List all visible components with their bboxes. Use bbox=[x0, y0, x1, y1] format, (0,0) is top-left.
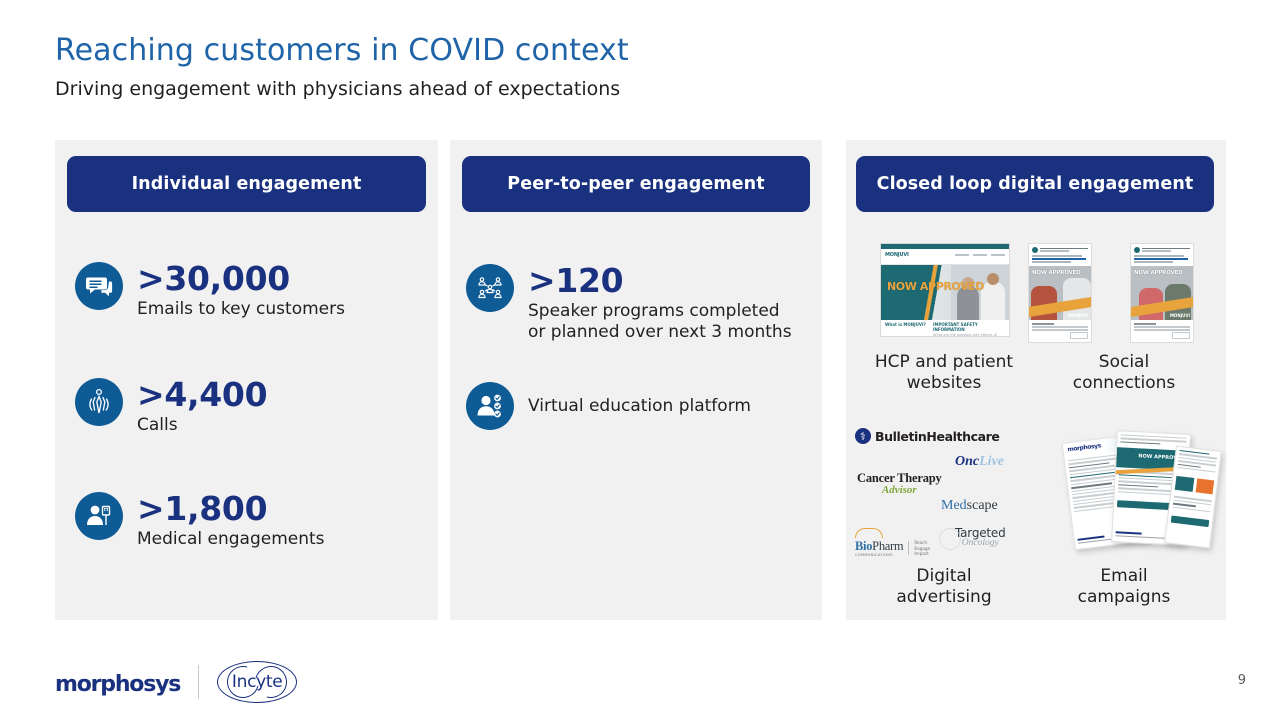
logo-text-primary: Bio bbox=[855, 539, 872, 553]
chat-bubbles-icon bbox=[75, 262, 123, 310]
website-footer-right-heading: IMPORTANT SAFETY INFORMATION bbox=[933, 322, 1009, 332]
item-virtual-education-platform: Virtual education platform bbox=[466, 382, 751, 430]
arc-icon bbox=[855, 528, 883, 538]
stat-calls: >4,400 Calls bbox=[75, 378, 267, 436]
avatar bbox=[1032, 247, 1038, 253]
stat-medical-engagements: >1,800 Medical engagements bbox=[75, 492, 325, 550]
stat-speaker-programs: >120 Speaker programs completed or plann… bbox=[466, 264, 792, 342]
logo-divider bbox=[908, 541, 909, 555]
website-nav-links bbox=[955, 254, 1005, 256]
logo-onclive: OncLive bbox=[955, 454, 1004, 470]
social-post-account bbox=[1142, 248, 1190, 253]
stat-value: >4,400 bbox=[137, 378, 267, 411]
social-post-thumbnail[interactable]: NOW APPROVED MONJUVI bbox=[1130, 243, 1194, 343]
stat-emails-to-key-customers: >30,000 Emails to key customers bbox=[75, 262, 345, 320]
logo-text-primary: Onc bbox=[955, 454, 979, 469]
person-checklist-icon bbox=[466, 382, 514, 430]
panel-header-peer-to-peer-engagement: Peer-to-peer engagement bbox=[462, 156, 810, 212]
social-post-header bbox=[1029, 244, 1091, 255]
caption-digital-advertising: Digital advertising bbox=[856, 566, 1032, 609]
website-navbar: MONJUVI bbox=[881, 249, 1009, 265]
email-cta-button[interactable] bbox=[1171, 515, 1210, 527]
website-screenshot-thumbnail[interactable]: MONJUVI NOW APPROVED · What is MONJUVI? … bbox=[880, 243, 1010, 337]
social-post-cta-button[interactable] bbox=[1172, 332, 1190, 339]
rays-icon bbox=[939, 528, 961, 550]
email-image-row bbox=[1175, 476, 1214, 495]
stat-value: >120 bbox=[528, 264, 792, 297]
page-subtitle: Driving engagement with physicians ahead… bbox=[55, 78, 620, 100]
people-network-icon bbox=[466, 264, 514, 312]
logo-tagline: Reach Engage Impact bbox=[914, 540, 930, 557]
panel-peer-to-peer-engagement: Peer-to-peer engagement bbox=[450, 140, 822, 620]
partner-logo-group: BulletinHealthcare OncLive Cancer Therap… bbox=[855, 428, 1035, 558]
footer-logos: morphosys Incyte bbox=[55, 658, 297, 706]
stat-value: >1,800 bbox=[137, 492, 325, 525]
logo-text-rest: scape bbox=[967, 498, 998, 513]
logo-biopharm-communications: BioPharm COMMUNICATIONS Reach Engage Imp… bbox=[855, 528, 930, 557]
social-post-thumbnail[interactable]: NOW APPROVED MONJUVI bbox=[1028, 243, 1092, 343]
logo-divider bbox=[198, 665, 199, 699]
caption-email-campaigns: Email campaigns bbox=[1036, 566, 1212, 609]
morphosys-logo: morphosys bbox=[55, 672, 180, 697]
email-body-lines bbox=[1174, 447, 1221, 479]
website-footer-right-sub: What are the possible side effects of MO… bbox=[933, 333, 1009, 337]
logo-text-primary: M bbox=[941, 498, 953, 513]
social-post-account bbox=[1040, 248, 1088, 253]
incyte-logo-text: Incyte bbox=[232, 672, 283, 692]
item-label: Virtual education platform bbox=[528, 382, 751, 430]
caduceus-icon bbox=[855, 428, 871, 444]
email-body-lines-2 bbox=[1169, 493, 1215, 518]
website-footer: What is MONJUVI? IMPORTANT SAFETY INFORM… bbox=[881, 320, 1009, 337]
panel-header-individual-engagement: Individual engagement bbox=[67, 156, 426, 212]
caption-social-connections: Social connections bbox=[1036, 352, 1212, 395]
website-brand-logo: MONJUVI bbox=[885, 252, 909, 258]
logo-bulletinhealthcare: BulletinHealthcare bbox=[855, 428, 999, 444]
social-post-text bbox=[1029, 255, 1091, 266]
social-post-header bbox=[1131, 244, 1193, 255]
panel-header-closed-loop-digital-engagement: Closed loop digital engagement bbox=[856, 156, 1214, 212]
logo-targeted-oncology: Targeted Oncology bbox=[955, 526, 1006, 548]
brand-logo: morphosys bbox=[1067, 442, 1101, 453]
logo-text-mid: ed bbox=[953, 498, 966, 513]
logo-cancer-therapy-advisor: Cancer Therapy Advisor bbox=[857, 471, 942, 496]
now-approved-text: NOW APPROVED bbox=[1032, 270, 1081, 276]
website-hero: NOW APPROVED · bbox=[881, 265, 1009, 320]
social-post-image: NOW APPROVED MONJUVI bbox=[1131, 266, 1193, 320]
brand-logo: MONJUVI bbox=[1068, 313, 1088, 318]
stat-label: Speaker programs completed or planned ov… bbox=[528, 301, 792, 342]
stat-label: Emails to key customers bbox=[137, 299, 345, 320]
social-post-text bbox=[1131, 255, 1193, 266]
logo-text-secondary: Live bbox=[979, 454, 1004, 469]
avatar bbox=[1134, 247, 1140, 253]
incyte-logo: Incyte bbox=[217, 661, 297, 703]
stat-label: Medical engagements bbox=[137, 529, 325, 550]
logo-medscape: Medscape bbox=[941, 498, 998, 514]
hero-now-approved-text: NOW APPROVED bbox=[887, 281, 984, 292]
now-approved-text: NOW APPROVED bbox=[1134, 270, 1183, 276]
stat-label: Calls bbox=[137, 415, 267, 436]
page-number: 9 bbox=[1238, 673, 1246, 688]
brand-logo: MONJUVI bbox=[1170, 313, 1190, 318]
person-network-icon bbox=[75, 378, 123, 426]
logo-text-rest: Pharm bbox=[872, 539, 903, 553]
logo-text: BulletinHealthcare bbox=[875, 429, 999, 444]
patient-iv-drip-icon bbox=[75, 492, 123, 540]
caption-hcp-patient-websites: HCP and patient websites bbox=[856, 352, 1032, 395]
social-post-image: NOW APPROVED MONJUVI bbox=[1029, 266, 1091, 320]
logo-line-2: Oncology bbox=[955, 538, 1006, 548]
social-post-cta-button[interactable] bbox=[1070, 332, 1088, 339]
page-title: Reaching customers in COVID context bbox=[55, 33, 629, 68]
email-campaign-thumbnails: morphosys NOW APPROVED bbox=[1066, 430, 1218, 558]
stat-value: >30,000 bbox=[137, 262, 345, 295]
